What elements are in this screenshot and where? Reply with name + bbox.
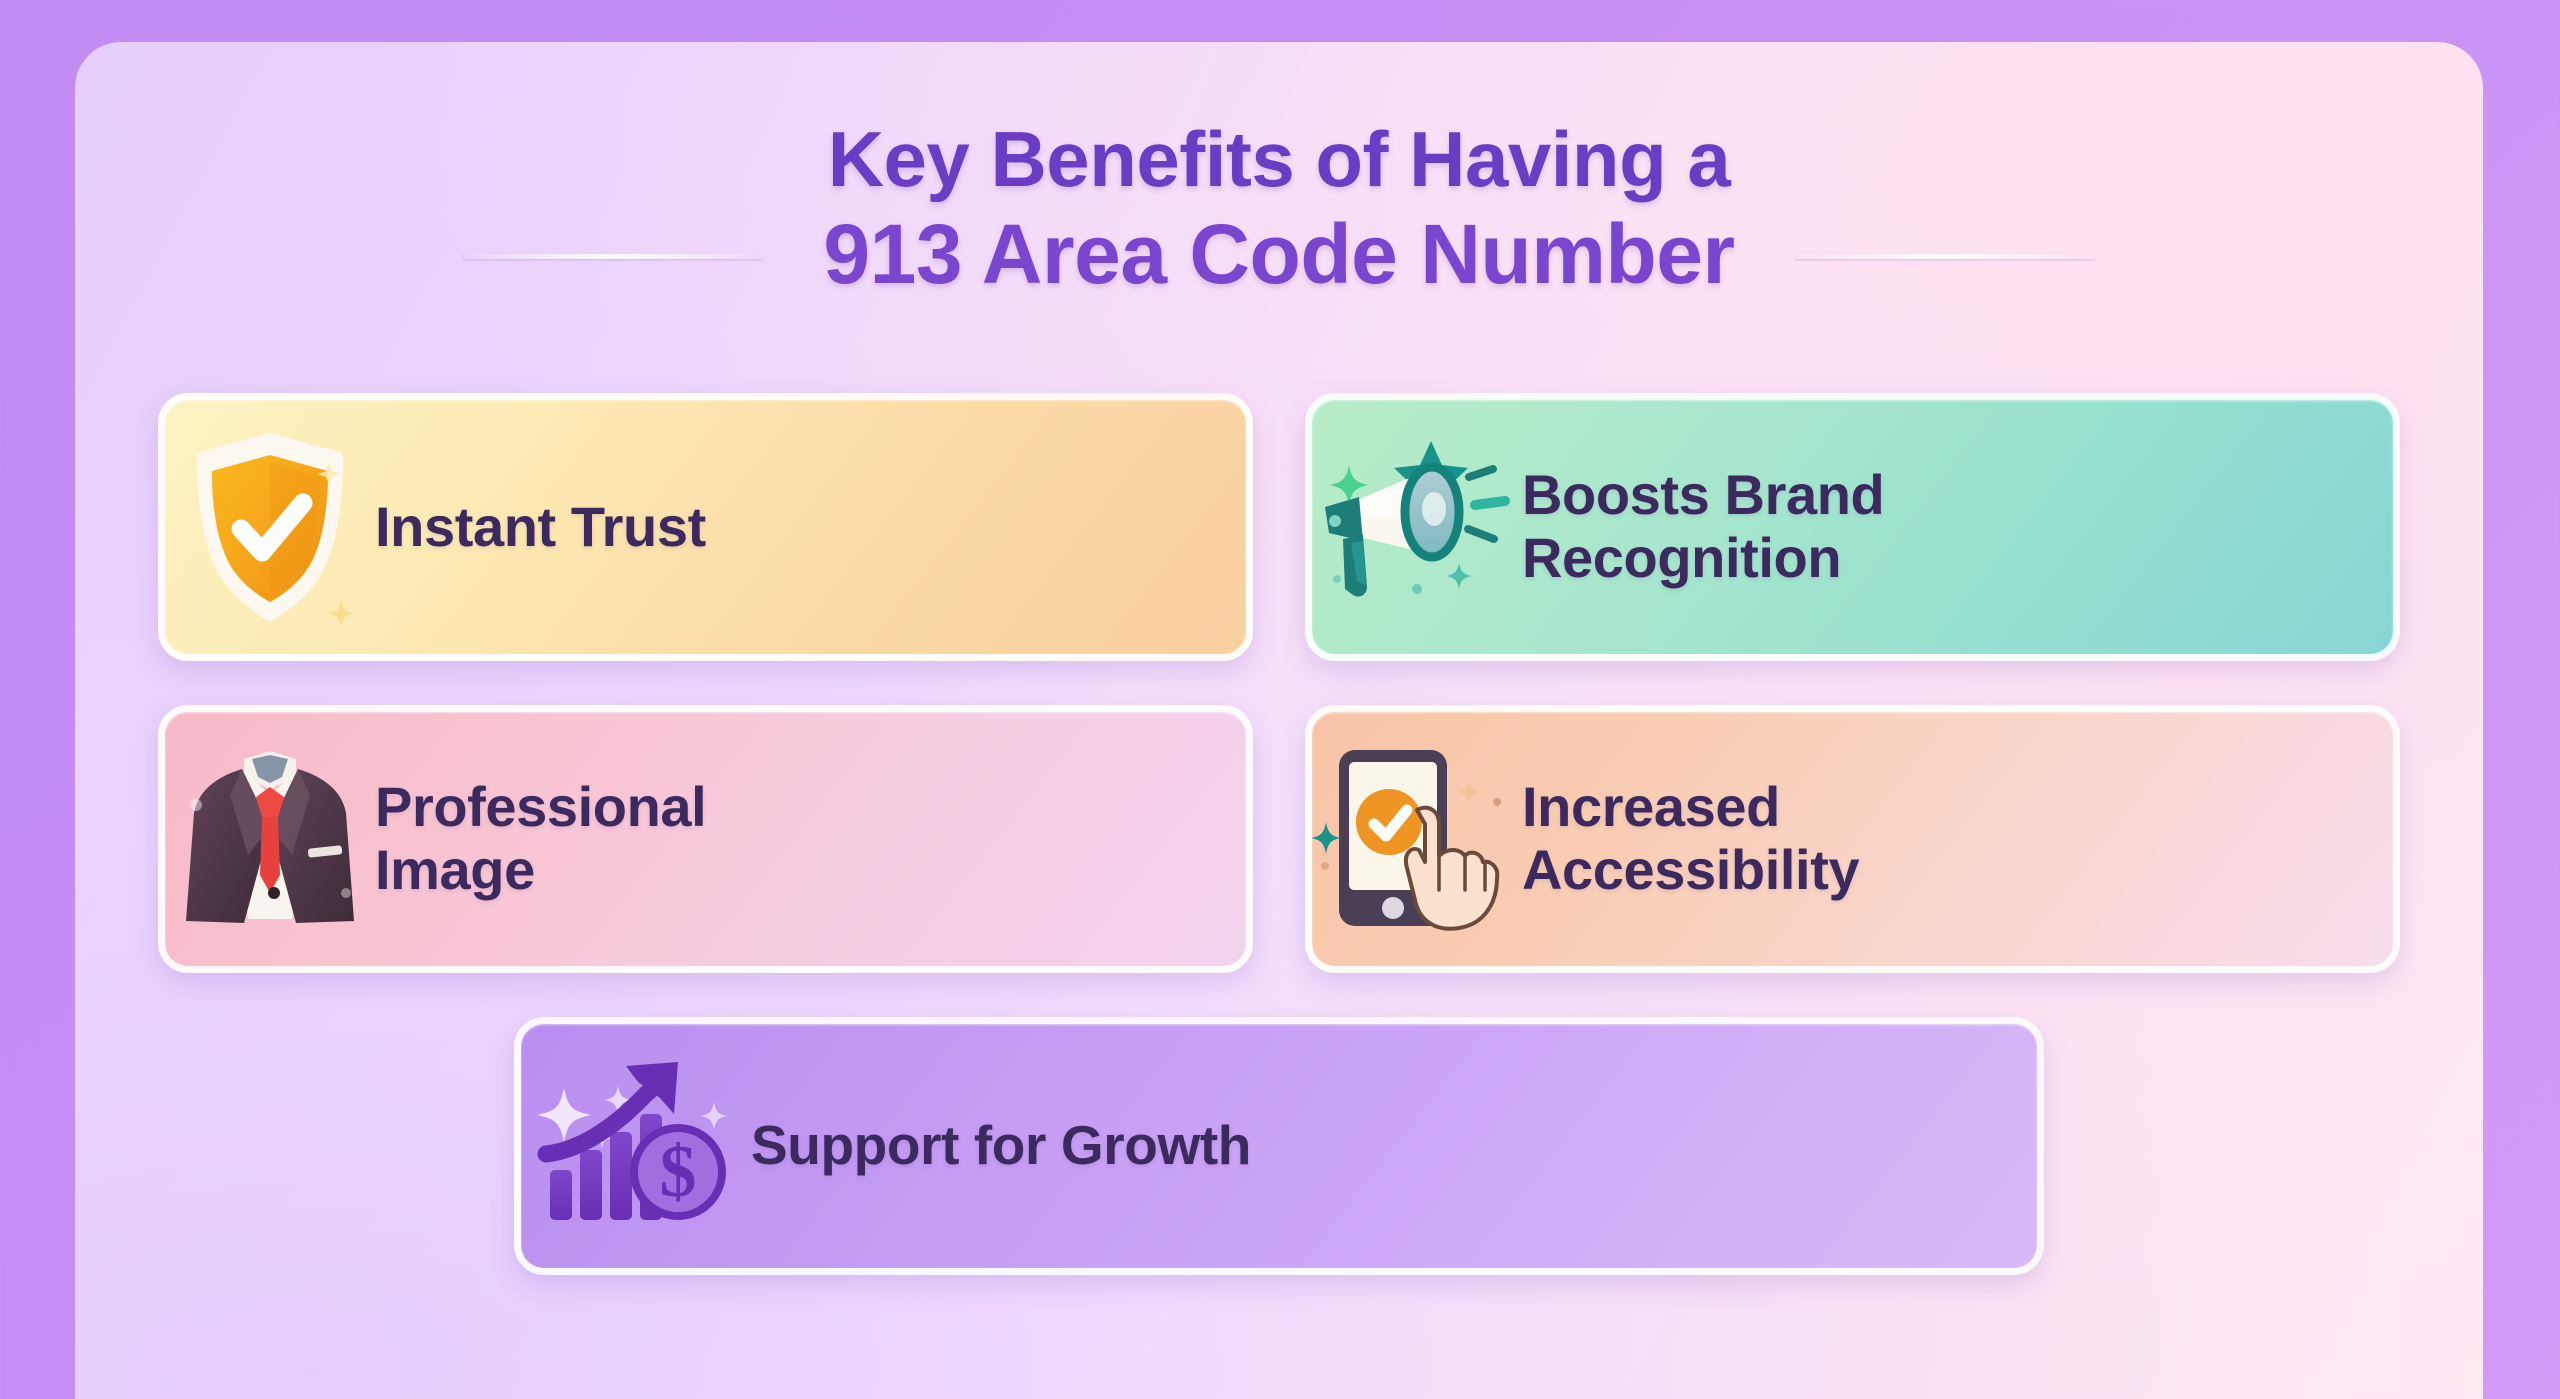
benefit-card-professional-image[interactable]: Professional Image [158, 705, 1253, 973]
infographic-panel: Key Benefits of Having a 913 Area Code N… [75, 42, 2483, 1399]
page-title-line-2-text: 913 Area Code Number [823, 207, 1734, 301]
benefit-card-support-for-growth[interactable]: $ Support for Growth [514, 1017, 2044, 1275]
benefits-row-3: $ Support for Growth [158, 1017, 2400, 1275]
svg-text:$: $ [660, 1131, 697, 1213]
benefits-row-1: Instant Trust [158, 393, 2400, 661]
page-title-line-2: 913 Area Code Number [823, 205, 1734, 303]
growth-chart-dollar-icon: $ [521, 1024, 751, 1268]
decorative-rule-left-icon [463, 254, 763, 259]
benefit-label: Boosts Brand Recognition [1522, 464, 1904, 589]
decorative-rule-right-icon [1795, 254, 2095, 259]
benefit-label: Increased Accessibility [1522, 776, 1879, 901]
smartphone-tap-icon [1312, 712, 1522, 966]
page-title-line-1: Key Benefits of Having a [75, 114, 2483, 205]
benefits-row-2: Professional Image [158, 705, 2400, 973]
benefit-label: Instant Trust [375, 496, 726, 559]
business-suit-icon [165, 712, 375, 966]
benefit-label: Support for Growth [751, 1115, 1271, 1177]
benefit-card-instant-trust[interactable]: Instant Trust [158, 393, 1253, 661]
megaphone-icon [1312, 400, 1522, 654]
shield-check-icon [165, 400, 375, 654]
benefit-label: Professional Image [375, 776, 726, 901]
benefits-grid: Instant Trust [158, 393, 2400, 1319]
benefit-card-boosts-brand-recognition[interactable]: Boosts Brand Recognition [1305, 393, 2400, 661]
benefit-card-increased-accessibility[interactable]: Increased Accessibility [1305, 705, 2400, 973]
title-block: Key Benefits of Having a 913 Area Code N… [75, 114, 2483, 304]
